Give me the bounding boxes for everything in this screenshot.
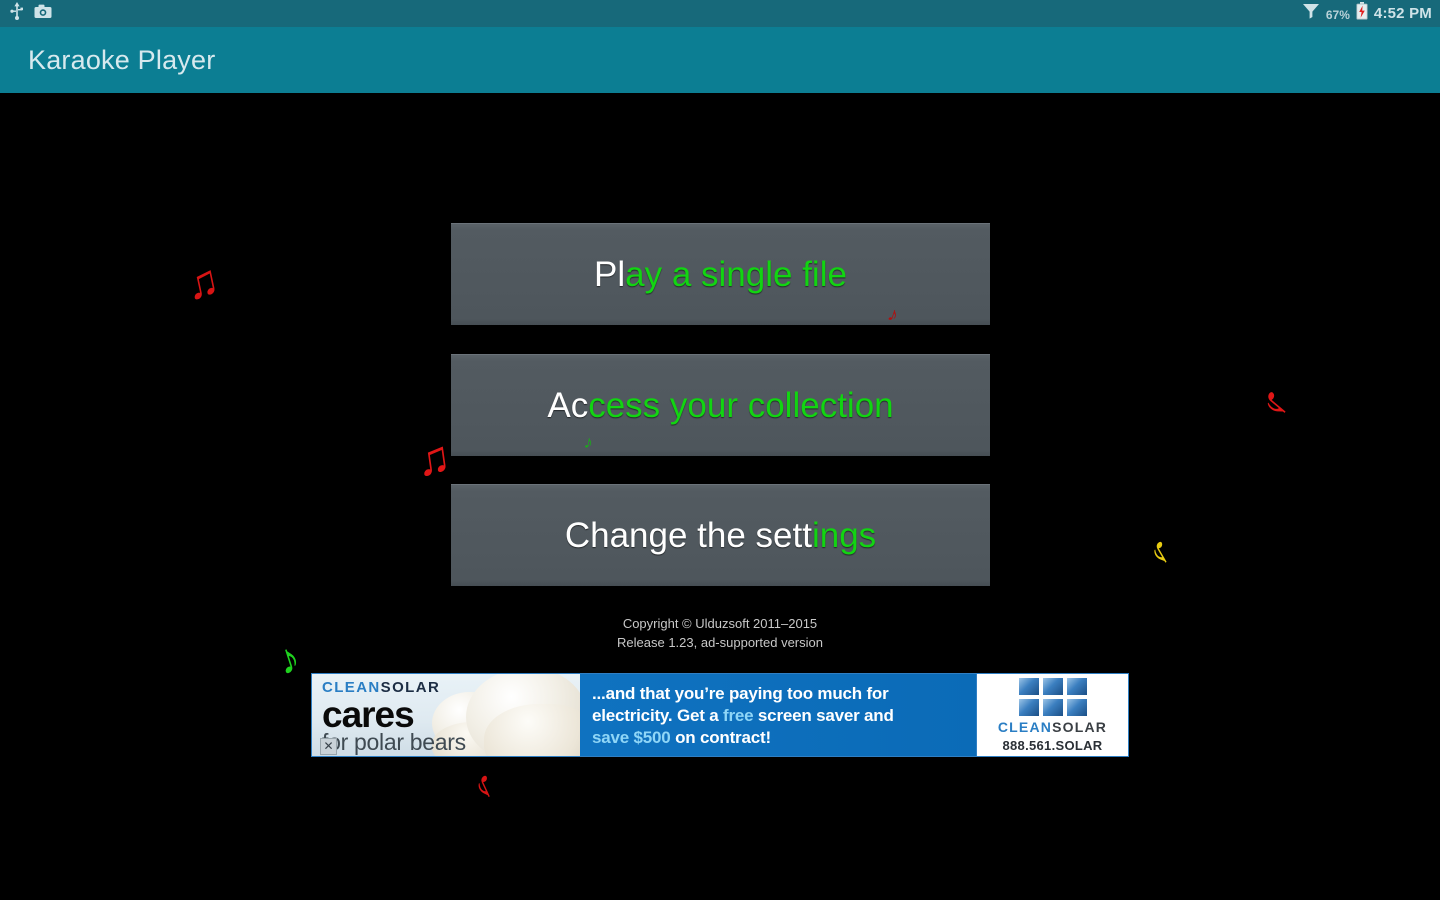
ad-line3-highlight: save $500: [592, 728, 671, 747]
play-single-file-label: Play a single file: [594, 255, 847, 295]
access-collection-button[interactable]: Access your collection: [451, 354, 990, 456]
play-single-file-button[interactable]: Play a single file: [451, 223, 990, 325]
ad-text-line-1: ...and that you’re paying too much for: [592, 683, 976, 705]
ad-text-line-2: electricity. Get a free screen saver and: [592, 705, 976, 727]
settings-sung-text: Change the sett: [565, 516, 812, 555]
solar-panel-icon: [1018, 677, 1088, 717]
status-bar-left-icons: [10, 2, 52, 25]
settings-unsung-text: ings: [812, 516, 876, 555]
ad-left-panel[interactable]: CLEANSOLAR cares for polar bears ✕: [312, 674, 580, 756]
ad-right-brand-clean: CLEAN: [998, 719, 1052, 735]
ad-close-icon[interactable]: ✕: [320, 738, 337, 755]
main-content: Play a single file Access your collectio…: [0, 93, 1440, 900]
ad-right-brand-solar: SOLAR: [1052, 719, 1107, 735]
ad-line2-post: screen saver and: [753, 706, 893, 725]
status-bar-right-icons: 67% 4:52 PM: [1302, 2, 1432, 25]
solar-cell: [1042, 698, 1064, 717]
status-bar[interactable]: 67% 4:52 PM: [0, 0, 1440, 27]
solar-cell: [1018, 677, 1040, 696]
app-title-bar: Karaoke Player: [0, 27, 1440, 93]
solar-cell: [1018, 698, 1040, 717]
change-settings-label: Change the settings: [565, 516, 876, 556]
ad-right-brand: CLEANSOLAR: [998, 720, 1107, 735]
ad-line2-highlight: free: [723, 706, 753, 725]
play-sung-text: Pl: [594, 255, 625, 294]
ad-line2-pre: electricity. Get a: [592, 706, 723, 725]
usb-icon: [10, 2, 24, 25]
ad-right-panel[interactable]: CLEANSOLAR 888.561.SOLAR: [976, 674, 1128, 756]
ad-left-brand-block: CLEANSOLAR cares: [322, 680, 440, 733]
battery-percent-label: 67%: [1326, 8, 1350, 22]
page-title: Karaoke Player: [0, 45, 215, 76]
ad-line3-post: on contract!: [671, 728, 771, 747]
screenshot-camera-icon: [34, 4, 52, 24]
music-note-icon: ♫: [182, 258, 223, 308]
cleansolar-ad-banner[interactable]: CLEANSOLAR cares for polar bears ✕ ...an…: [311, 673, 1129, 757]
access-collection-label: Access your collection: [547, 386, 893, 426]
music-note-icon: ♪: [1144, 533, 1179, 575]
solar-cell: [1066, 677, 1088, 696]
solar-cell: [1066, 698, 1088, 717]
access-unsung-text: cess your collection: [588, 386, 893, 425]
ad-headline: cares: [322, 697, 440, 733]
solar-cell: [1042, 677, 1064, 696]
wifi-icon: [1302, 2, 1320, 25]
copyright-line-1: Copyright © Ulduzsoft 2011–2015: [0, 614, 1440, 633]
music-note-icon: ♪: [469, 767, 502, 809]
ad-text-line-3: save $500 on contract!: [592, 727, 976, 749]
clock-label: 4:52 PM: [1374, 5, 1432, 22]
music-note-icon: ♪: [1253, 382, 1301, 427]
battery-charging-icon: [1356, 2, 1368, 25]
access-sung-text: Ac: [547, 386, 588, 425]
change-settings-button[interactable]: Change the settings: [451, 484, 990, 586]
play-unsung-text: ay a single file: [625, 255, 847, 294]
copyright-line-2: Release 1.23, ad-supported version: [0, 633, 1440, 652]
ad-subline: for polar bears: [322, 730, 466, 754]
ad-middle-panel[interactable]: ...and that you’re paying too much for e…: [580, 674, 976, 756]
music-note-icon: ♫: [413, 433, 454, 483]
ad-phone-number: 888.561.SOLAR: [1002, 738, 1102, 753]
copyright-block: Copyright © Ulduzsoft 2011–2015 Release …: [0, 614, 1440, 652]
